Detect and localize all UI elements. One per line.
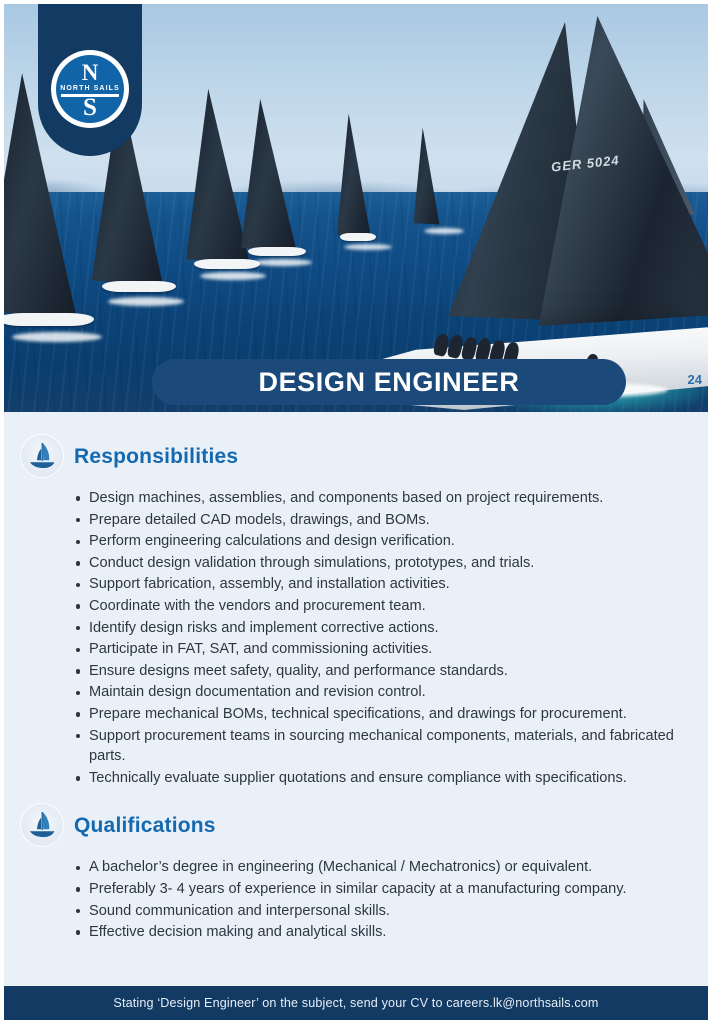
section-title: Qualifications	[74, 815, 216, 836]
fleet-hull-1	[4, 313, 94, 326]
fleet-boat-4	[246, 100, 302, 250]
list-item: Prepare detailed CAD models, drawings, a…	[76, 510, 682, 531]
list-item: Maintain design documentation and revisi…	[76, 682, 682, 703]
section-title: Responsibilities	[74, 446, 238, 467]
list-item: Technically evaluate supplier quotations…	[76, 768, 682, 789]
wake-foam	[12, 332, 102, 342]
logo-wordmark: NORTH SAILS	[59, 83, 121, 94]
footer-bar: Stating ‘Design Engineer’ on the subject…	[4, 986, 708, 1020]
sailboat-icon	[20, 434, 64, 478]
sailboat-icon	[20, 803, 64, 847]
list-item: Identify design risks and implement corr…	[76, 618, 682, 639]
logo-letter-n: N	[56, 61, 124, 84]
fleet-hull-2	[102, 281, 176, 292]
north-sails-logo: N NORTH SAILS S	[51, 50, 129, 128]
logo-tab: N NORTH SAILS S	[38, 4, 142, 156]
list-item: Design machines, assemblies, and compone…	[76, 488, 682, 509]
fleet-hull-4	[248, 247, 306, 256]
foreground-racing-yacht: GER 5024 24	[318, 18, 708, 412]
list-item: Sound communication and interpersonal sk…	[76, 901, 682, 922]
list-item: A bachelor’s degree in engineering (Mech…	[76, 857, 682, 878]
wake-foam	[254, 259, 312, 266]
fleet-hull-3	[194, 259, 260, 269]
job-poster: GER 5024 24 N	[0, 0, 712, 1024]
list-item: Participate in FAT, SAT, and commissioni…	[76, 639, 682, 660]
list-item: Ensure designs meet safety, quality, and…	[76, 661, 682, 682]
list-item: Conduct design validation through simula…	[76, 553, 682, 574]
job-title: DESIGN ENGINEER	[258, 369, 519, 396]
hero-photo-region: GER 5024 24 N	[4, 4, 708, 412]
list-item: Preferably 3- 4 years of experience in s…	[76, 879, 682, 900]
responsibilities-list: Design machines, assemblies, and compone…	[14, 488, 692, 788]
list-item: Coordinate with the vendors and procurem…	[76, 596, 682, 617]
logo-letter-s: S	[56, 95, 124, 120]
section-header-responsibilities: Responsibilities	[20, 434, 692, 478]
content-area: Responsibilities Design machines, assemb…	[4, 412, 708, 980]
boat-badge-number: 24	[688, 373, 702, 386]
application-instructions: Stating ‘Design Engineer’ on the subject…	[113, 997, 598, 1010]
wake-foam	[200, 272, 266, 280]
qualifications-list: A bachelor’s degree in engineering (Mech…	[14, 857, 692, 942]
wake-foam	[344, 244, 392, 250]
list-item: Support procurement teams in sourcing me…	[76, 726, 682, 767]
list-item: Effective decision making and analytical…	[76, 922, 682, 943]
wake-foam	[108, 297, 184, 306]
job-title-banner: DESIGN ENGINEER	[152, 359, 626, 405]
list-item: Perform engineering calculations and des…	[76, 531, 682, 552]
section-spacer	[14, 789, 692, 803]
logo-inner-circle: N NORTH SAILS S	[56, 55, 124, 123]
list-item: Prepare mechanical BOMs, technical speci…	[76, 704, 682, 725]
list-item: Support fabrication, assembly, and insta…	[76, 574, 682, 595]
wake-foam	[424, 228, 464, 234]
section-header-qualifications: Qualifications	[20, 803, 692, 847]
